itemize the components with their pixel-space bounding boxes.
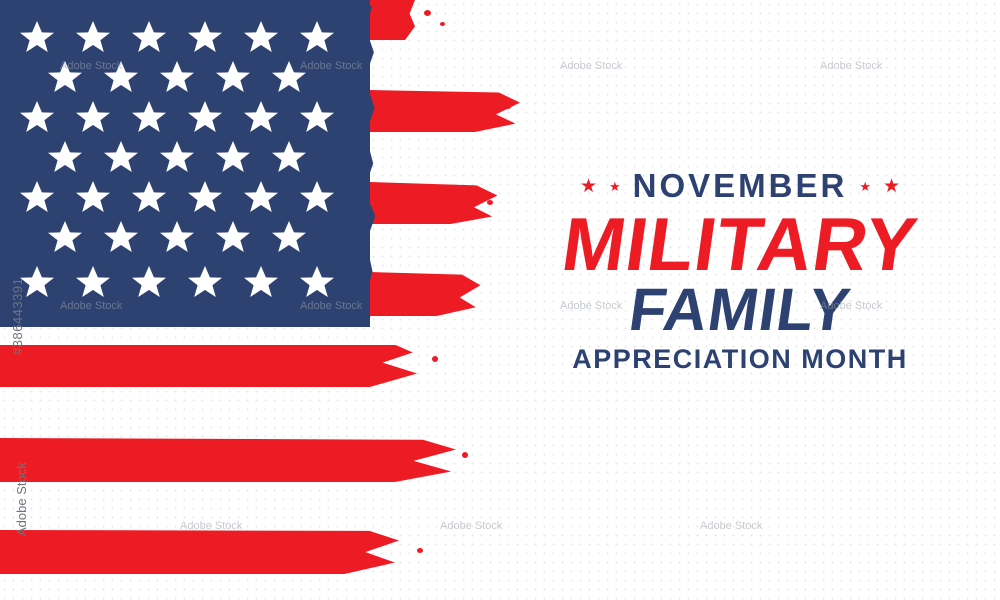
watermark-tile: Adobe Stock — [60, 300, 122, 312]
title-line-1: MILITARY — [500, 206, 981, 282]
watermark-tile: Adobe Stock — [180, 520, 242, 532]
eyebrow-row: ★ ★ NOVEMBER ★ ★ — [505, 168, 975, 204]
stock-asset-id: #386443391 — [10, 278, 25, 355]
stock-vendor-label: Adobe Stock — [14, 462, 29, 536]
watermark-tile: Adobe Stock — [820, 60, 882, 72]
watermark-tile: Adobe Stock — [560, 60, 622, 72]
star-icon: ★ — [580, 177, 597, 196]
eyebrow-text: NOVEMBER — [633, 167, 848, 205]
star-icon: ★ — [609, 177, 621, 196]
brush-speck — [432, 356, 438, 362]
flag-stripe — [0, 345, 430, 387]
watermark-tile: Adobe Stock — [300, 60, 362, 72]
flag-stripe — [0, 530, 420, 574]
subtitle-text: APPRECIATION MONTH — [505, 344, 975, 374]
flag-stripe — [370, 272, 485, 316]
flag-canton — [0, 0, 370, 327]
star-icon: ★ — [883, 177, 900, 196]
canton-stars — [0, 0, 370, 327]
watermark-tile: Adobe Stock — [300, 300, 362, 312]
poster-canvas: ★ ★ NOVEMBER ★ ★ MILITARY FAMILY APPRECI… — [0, 0, 1000, 600]
brush-speck — [440, 22, 445, 26]
watermark-tile: Adobe Stock — [820, 300, 882, 312]
brush-speck — [505, 104, 511, 109]
brush-speck — [487, 200, 493, 205]
flag-stripe — [370, 182, 500, 224]
watermark-tile: Adobe Stock — [700, 520, 762, 532]
brush-speck — [424, 10, 431, 16]
flag-stripe — [370, 90, 520, 132]
watermark-tile: Adobe Stock — [560, 300, 622, 312]
watermark-tile: Adobe Stock — [440, 520, 502, 532]
flag-stripe — [370, 0, 415, 40]
brush-speck — [462, 452, 468, 458]
flag-stripe — [0, 438, 470, 482]
poster-text-block: ★ ★ NOVEMBER ★ ★ MILITARY FAMILY APPRECI… — [505, 168, 975, 374]
watermark-tile: Adobe Stock — [60, 60, 122, 72]
star-icon: ★ — [859, 177, 871, 196]
brush-speck — [417, 548, 423, 553]
